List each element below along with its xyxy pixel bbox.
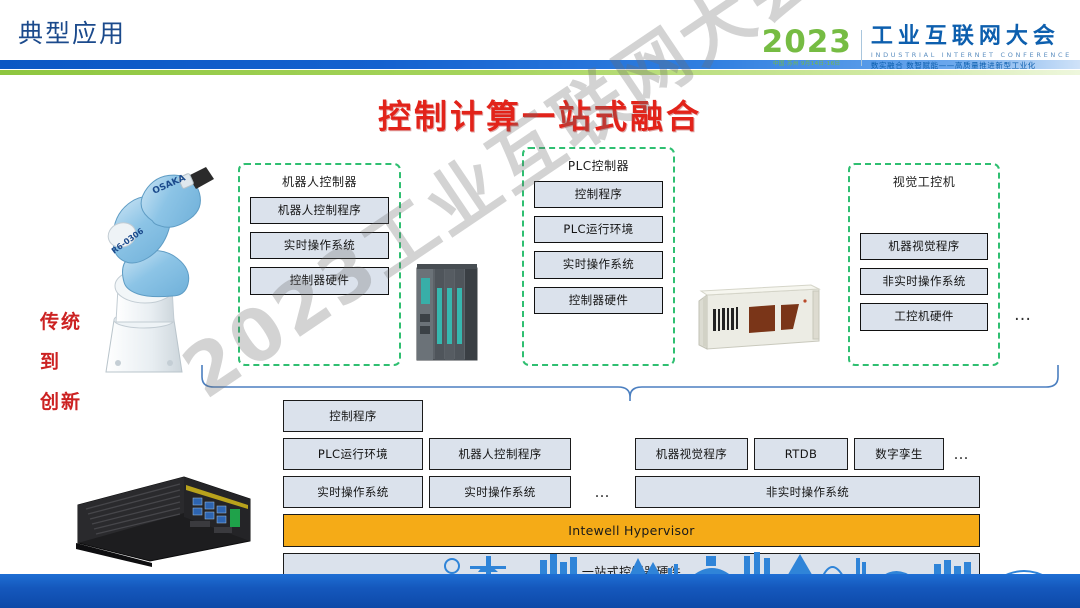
left-caption-line-1: 传统 <box>40 302 100 342</box>
block-vision-program: 机器视觉程序 <box>860 233 988 260</box>
stack-block-vision-program: 机器视觉程序 <box>635 438 748 470</box>
block-plc-rtos: 实时操作系统 <box>534 251 663 278</box>
stack-block-plc-runtime: PLC运行环境 <box>283 438 423 470</box>
left-caption-line-2: 到 <box>40 342 100 382</box>
stack-os-ellipsis: … <box>571 476 635 508</box>
convergence-brace <box>200 363 1060 403</box>
block-robot-program: 机器人控制程序 <box>250 197 389 224</box>
logo-date: 中国·苏州 9月14日-16日 <box>762 62 852 68</box>
group-vision-ipc-items: 机器视觉程序 非实时操作系统 工控机硬件 <box>850 233 998 340</box>
group-plc-controller: PLC控制器 控制程序 PLC运行环境 实时操作系统 控制器硬件 <box>522 147 675 366</box>
group-robot-controller-items: 机器人控制程序 实时操作系统 控制器硬件 <box>240 197 399 304</box>
stack-block-non-rtos: 非实时操作系统 <box>635 476 980 508</box>
logo-name-block: 工业互联网大会 INDUSTRIAL INTERNET CONFERENCE 数… <box>871 26 1072 69</box>
group-vision-ipc-title: 视觉工控机 <box>850 173 998 190</box>
stack-block-control-program: 控制程序 <box>283 400 423 432</box>
plc-rack-image <box>415 262 481 362</box>
logo-year-block: 2023 中国·苏州 9月14日-16日 <box>762 27 852 68</box>
page-title: 典型应用 <box>18 14 126 50</box>
stack-block-digital-twin: 数字孪生 <box>854 438 944 470</box>
header-rule-green <box>0 70 1080 75</box>
logo-year: 2023 <box>762 27 852 58</box>
group-robot-controller: 机器人控制器 机器人控制程序 实时操作系统 控制器硬件 <box>238 163 401 366</box>
top-groups-ellipsis: … <box>1014 305 1033 325</box>
logo-slogan: 数实融合 数智赋能——高质量推进新型工业化 <box>871 62 1072 70</box>
conference-logo: 2023 中国·苏州 9月14日-16日 工业互联网大会 INDUSTRIAL … <box>762 26 1072 69</box>
group-robot-controller-title: 机器人控制器 <box>240 173 399 190</box>
footer-band <box>0 574 1080 608</box>
group-vision-ipc: 视觉工控机 机器视觉程序 非实时操作系统 工控机硬件 <box>848 163 1000 366</box>
block-plc-control-program: 控制程序 <box>534 181 663 208</box>
block-robot-hardware: 控制器硬件 <box>250 267 389 294</box>
block-robot-rtos: 实时操作系统 <box>250 232 389 259</box>
stack-block-hypervisor: Intewell Hypervisor <box>283 514 980 547</box>
stack-gap-2 <box>571 438 635 470</box>
stack-row-app: 控制程序 <box>283 400 980 432</box>
stack-runtime-ellipsis: … <box>944 438 980 470</box>
left-caption: 传统 到 创新 <box>40 302 100 422</box>
stack-block-rtdb: RTDB <box>754 438 848 470</box>
stack-block-rtos-2: 实时操作系统 <box>429 476 571 508</box>
rackmount-ipc-image <box>697 283 829 355</box>
stack-block-robot-program: 机器人控制程序 <box>429 438 571 470</box>
main-title: 控制计算一站式融合 <box>0 90 1080 138</box>
block-plc-hardware: 控制器硬件 <box>534 287 663 314</box>
group-plc-controller-title: PLC控制器 <box>524 157 673 174</box>
logo-name-en: INDUSTRIAL INTERNET CONFERENCE <box>871 52 1072 59</box>
group-vision-spacer <box>850 197 998 233</box>
block-plc-runtime: PLC运行环境 <box>534 216 663 243</box>
stack-block-rtos-1: 实时操作系统 <box>283 476 423 508</box>
logo-divider <box>861 30 862 66</box>
stack-row-runtime: PLC运行环境 机器人控制程序 机器视觉程序 RTDB 数字孪生 … <box>283 438 980 470</box>
slide-canvas: 典型应用 2023 中国·苏州 9月14日-16日 工业互联网大会 INDUST… <box>0 0 1080 608</box>
logo-name-cn: 工业互联网大会 <box>871 26 1072 48</box>
stack-row-os: 实时操作系统 实时操作系统 … 非实时操作系统 <box>283 476 980 508</box>
group-plc-controller-items: 控制程序 PLC运行环境 实时操作系统 控制器硬件 <box>524 181 673 323</box>
left-caption-line-3: 创新 <box>40 382 100 422</box>
block-vision-nonrtos: 非实时操作系统 <box>860 268 988 295</box>
block-vision-hardware: 工控机硬件 <box>860 303 988 330</box>
